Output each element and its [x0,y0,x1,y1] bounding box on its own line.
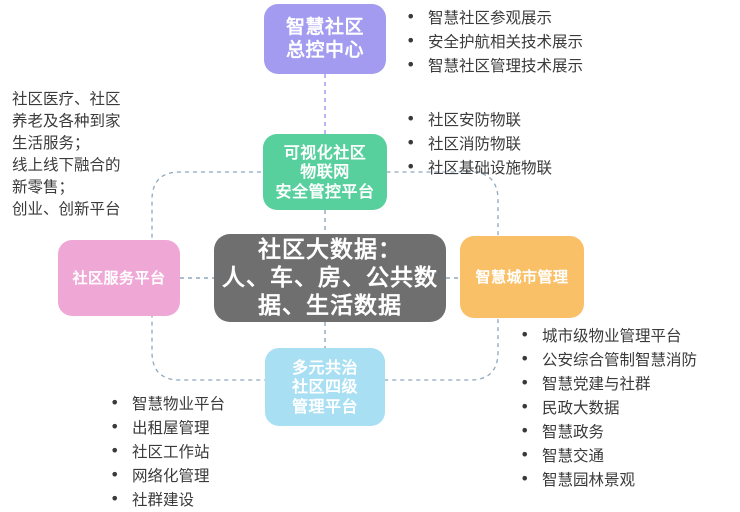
node-iot-platform-label: 可视化社区 物联网 安全管控平台 [263,143,387,202]
node-visual-community-iot-security-platform[interactable]: 可视化社区 物联网 安全管控平台 [263,134,387,210]
list-item: 社区基础设施物联 [404,156,552,180]
list-item: 社区工作站 [108,440,225,464]
bullet-list-iot-platform: 社区安防物联社区消防物联社区基础设施物联 [404,108,552,180]
list-item: 安全护航相关技术展示 [404,30,583,54]
list-item: 智慧交通 [518,444,697,468]
list-item: 社区消防物联 [404,132,552,156]
bullet-list-four-level-platform: 智慧物业平台出租屋管理社区工作站网络化管理社群建设 [108,392,225,512]
list-item: 城市级物业管理平台 [518,324,697,348]
node-community-service-platform[interactable]: 社区服务平台 [58,240,180,316]
bullet-list-city-management: 城市级物业管理平台公安综合管制智慧消防智慧党建与社群民政大数据智慧政务智慧交通智… [518,324,697,492]
list-item: 智慧政务 [518,420,697,444]
node-four-level-governance-platform[interactable]: 多元共治 社区四级 管理平台 [265,348,385,426]
list-item: 智慧社区参观展示 [404,6,583,30]
node-city-management-label: 智慧城市管理 [460,268,584,286]
node-control-center-label: 智慧社区 总控中心 [264,16,386,62]
list-item: 社区安防物联 [404,108,552,132]
list-item: 出租屋管理 [108,416,225,440]
list-item: 民政大数据 [518,396,697,420]
node-community-big-data-center[interactable]: 社区大数据： 人、车、房、公共数 据、生活数据 [214,234,446,322]
diagram-canvas: 智慧社区 总控中心 可视化社区 物联网 安全管控平台 社区大数据： 人、车、房、… [0,0,740,512]
list-item: 智慧园林景观 [518,468,697,492]
list-item: 公安综合管制智慧消防 [518,348,697,372]
list-item: 智慧党建与社群 [518,372,697,396]
list-item: 社群建设 [108,488,225,512]
node-service-platform-label: 社区服务平台 [58,269,180,287]
service-platform-detail-text: 社区医疗、社区 养老及各种到家 生活服务； 线上线下融合的 新零售； 创业、创新… [12,88,180,220]
node-big-data-label: 社区大数据： 人、车、房、公共数 据、生活数据 [214,236,446,320]
node-four-level-label: 多元共治 社区四级 管理平台 [265,358,385,417]
node-smart-community-control-center[interactable]: 智慧社区 总控中心 [264,4,386,74]
bullet-list-control-center: 智慧社区参观展示安全护航相关技术展示智慧社区管理技术展示 [404,6,583,78]
list-item: 智慧物业平台 [108,392,225,416]
node-smart-city-management[interactable]: 智慧城市管理 [460,236,584,318]
list-item: 智慧社区管理技术展示 [404,54,583,78]
list-item: 网络化管理 [108,464,225,488]
